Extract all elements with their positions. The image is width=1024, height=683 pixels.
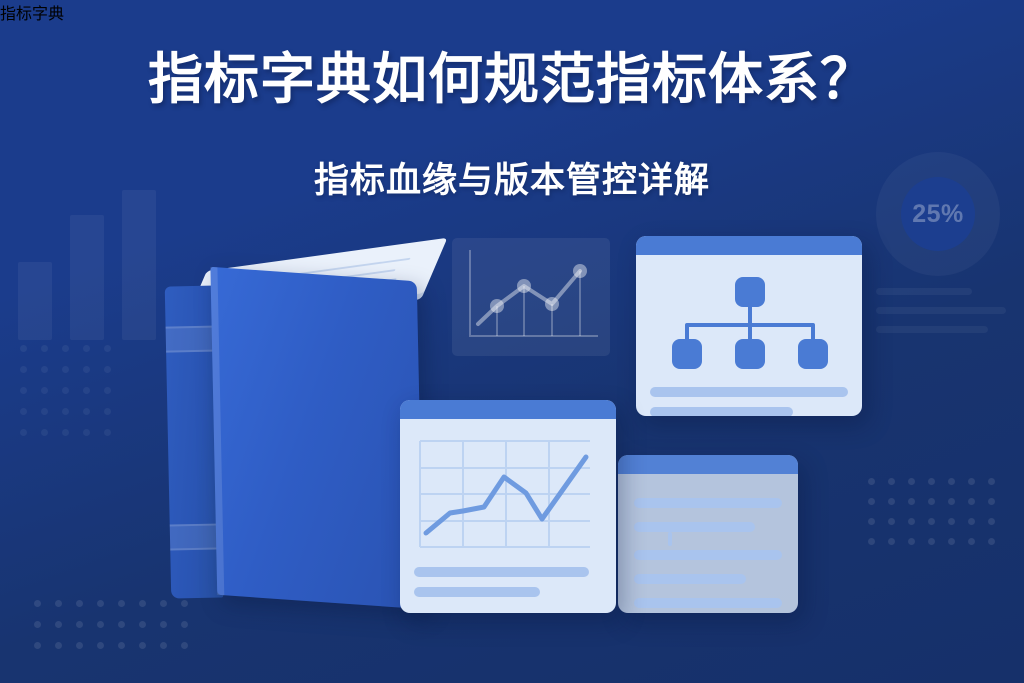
- dot: [104, 408, 111, 415]
- dot: [908, 498, 915, 505]
- dot: [868, 478, 875, 485]
- dot: [988, 518, 995, 525]
- card-body: [400, 419, 616, 613]
- bar-decoration-2: [70, 215, 104, 340]
- card-body: [636, 255, 862, 416]
- donut-label: 25%: [912, 200, 964, 229]
- dot: [62, 387, 69, 394]
- hierarchy-tree-icon: [651, 271, 847, 375]
- dot: [948, 538, 955, 545]
- book-cover-title: 指标字典: [0, 0, 1024, 24]
- dot: [928, 538, 935, 545]
- dot-grid-bottom-left: [34, 600, 188, 649]
- dot: [948, 518, 955, 525]
- dot: [76, 621, 83, 628]
- dot: [888, 498, 895, 505]
- dot: [104, 345, 111, 352]
- page-subtitle: 指标血缘与版本管控详解: [0, 152, 1024, 203]
- dot: [928, 478, 935, 485]
- bar-decoration-1: [18, 262, 52, 340]
- page-subtitle-text: 指标血缘与版本管控详解: [0, 152, 1024, 203]
- dot: [41, 387, 48, 394]
- dot: [928, 518, 935, 525]
- dot: [62, 408, 69, 415]
- dot: [104, 366, 111, 373]
- dot: [34, 621, 41, 628]
- dot: [55, 621, 62, 628]
- dot: [83, 345, 90, 352]
- dot: [968, 478, 975, 485]
- card-titlebar: [618, 455, 798, 474]
- page-title: 指标字典如何规范指标体系？: [0, 48, 1024, 111]
- dot: [41, 429, 48, 436]
- grid-chart-card[interactable]: [400, 400, 616, 613]
- dot: [20, 408, 27, 415]
- cover-illustration: 25% 指标字典如何规范指标体系？ 指标血缘与版本管控详解: [0, 0, 1024, 683]
- dot: [988, 498, 995, 505]
- card-titlebar: [636, 236, 862, 255]
- dot: [181, 642, 188, 649]
- dot: [868, 538, 875, 545]
- spine-band-bottom: [170, 523, 223, 550]
- dot: [104, 387, 111, 394]
- bar-chart-decoration: [18, 190, 158, 340]
- dot: [948, 498, 955, 505]
- dot: [118, 600, 125, 607]
- dot: [104, 429, 111, 436]
- placeholder-line: [634, 574, 746, 584]
- dot: [55, 600, 62, 607]
- dot: [160, 600, 167, 607]
- dot: [181, 621, 188, 628]
- dot: [20, 429, 27, 436]
- dot: [41, 408, 48, 415]
- placeholder-line: [634, 498, 782, 508]
- dot: [83, 429, 90, 436]
- dot: [160, 621, 167, 628]
- dot: [62, 366, 69, 373]
- dot: [139, 621, 146, 628]
- placeholder-line: [650, 387, 848, 397]
- dot: [908, 478, 915, 485]
- dot: [968, 498, 975, 505]
- dot: [20, 345, 27, 352]
- dot-grid-right: [868, 478, 995, 545]
- line-chart-icon: [452, 238, 610, 356]
- dot: [20, 387, 27, 394]
- dot: [34, 642, 41, 649]
- dot: [988, 538, 995, 545]
- bar-decoration-3: [122, 190, 156, 340]
- dot: [139, 600, 146, 607]
- dot: [908, 538, 915, 545]
- dot: [83, 366, 90, 373]
- line-placeholder-decoration: [876, 288, 1006, 345]
- dot: [76, 600, 83, 607]
- dot: [76, 642, 83, 649]
- dot: [97, 600, 104, 607]
- card-body: [618, 474, 798, 613]
- card-titlebar: [400, 400, 616, 419]
- dot: [888, 518, 895, 525]
- text-lines-card[interactable]: [618, 455, 798, 613]
- dot: [908, 518, 915, 525]
- dot: [888, 478, 895, 485]
- dot: [97, 621, 104, 628]
- dot: [41, 345, 48, 352]
- dot: [55, 642, 62, 649]
- placeholder-line: [414, 567, 589, 577]
- placeholder-line: [876, 307, 1006, 314]
- placeholder-line: [876, 288, 972, 295]
- dot: [868, 518, 875, 525]
- tree-connector: [668, 532, 672, 546]
- metric-dictionary-book: [168, 252, 438, 602]
- dot: [118, 642, 125, 649]
- dot: [41, 366, 48, 373]
- dot: [118, 621, 125, 628]
- hierarchy-tree-card[interactable]: [636, 236, 862, 416]
- dot: [62, 429, 69, 436]
- dot: [83, 387, 90, 394]
- dot: [868, 498, 875, 505]
- line-chart-panel: [452, 238, 610, 356]
- placeholder-line: [650, 407, 793, 416]
- placeholder-line: [876, 326, 988, 333]
- dot: [928, 498, 935, 505]
- placeholder-line: [634, 522, 755, 532]
- dot: [62, 345, 69, 352]
- dot: [160, 642, 167, 649]
- placeholder-line: [634, 550, 782, 560]
- dot: [948, 478, 955, 485]
- dot: [83, 408, 90, 415]
- dot: [988, 478, 995, 485]
- dot: [968, 518, 975, 525]
- spine-band-top: [166, 325, 219, 352]
- dot: [34, 600, 41, 607]
- book-cover: [210, 267, 423, 609]
- dot: [968, 538, 975, 545]
- dot: [888, 538, 895, 545]
- dot: [20, 366, 27, 373]
- page-title-text: 指标字典如何规范指标体系？: [0, 48, 1024, 111]
- grid-line-chart-icon: [414, 435, 600, 553]
- placeholder-line: [634, 598, 782, 608]
- dot-grid-left-middle: [20, 345, 111, 436]
- dot: [97, 642, 104, 649]
- dot: [139, 642, 146, 649]
- placeholder-line: [414, 587, 540, 597]
